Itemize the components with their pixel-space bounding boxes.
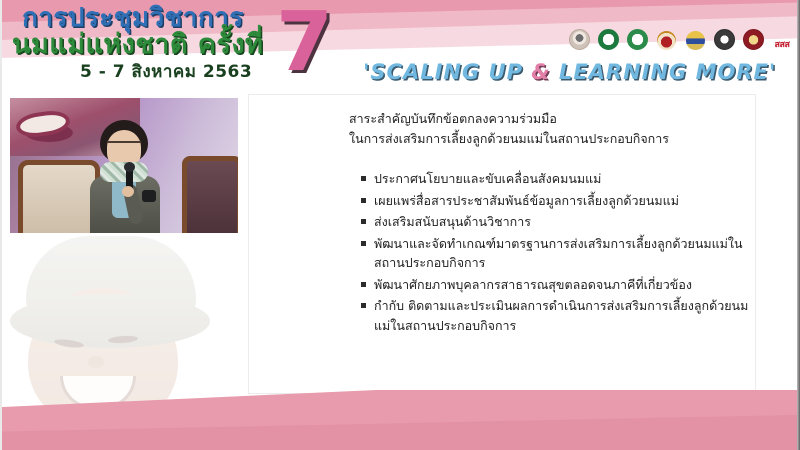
tagline-prefix: 'SCALING UP — [363, 60, 531, 84]
logo-thaihealth-sss-text: สสส — [770, 40, 794, 50]
tagline-ampersand: & — [531, 60, 550, 84]
conference-title-line1: การประชุมวิชาการ — [22, 4, 244, 32]
screen-mouth-graphic — [19, 113, 67, 135]
logo-royal-seal-icon — [569, 29, 590, 50]
logo-black-circle-seal-icon — [714, 29, 735, 50]
bullet-item: กำกับ ติดตามและประเมินผลการดำเนินการส่งเ… — [361, 296, 751, 335]
logo-thaihealth-sss: สสส — [770, 24, 794, 50]
bullet-item: พัฒนาและจัดทำเกณฑ์มาตรฐานการส่งเสริมการเ… — [361, 234, 751, 273]
logo-department-health — [625, 24, 649, 50]
logo-royal-seal — [567, 24, 591, 50]
presenter-clicker — [142, 190, 156, 202]
logo-red-circle-seal-icon — [743, 29, 764, 50]
conference-edition-number: 7 — [276, 2, 331, 84]
presentation-slide: 7 การประชุมวิชาการ นมแม่แห่งชาติ ครั้งที… — [0, 0, 800, 450]
content-heading: สาระสำคัญบันทึกข้อตกลงความร่วมมือ ในการส… — [349, 109, 749, 149]
logo-royal-emblem-red — [654, 24, 678, 50]
logo-ministry-public-health — [596, 24, 620, 50]
bullet-item: เผยแพร่สื่อสารประชาสัมพันธ์ข้อมูลการเลี้… — [361, 191, 751, 211]
baby-nose — [88, 356, 104, 368]
content-heading-line1: สาระสำคัญบันทึกข้อตกลงความร่วมมือ — [349, 109, 749, 129]
conference-date: 5 - 7 สิงหาคม 2563 — [80, 62, 252, 82]
speaker-video-thumbnail[interactable] — [10, 98, 238, 233]
logo-ministry-public-health-icon — [598, 29, 619, 50]
conference-tagline: 'SCALING UP & LEARNING MORE' — [363, 60, 776, 84]
armchair-right — [182, 156, 238, 233]
slide-frame-left-edge — [0, 0, 2, 450]
speaker-hand — [122, 186, 134, 197]
logo-black-circle-seal — [712, 24, 736, 50]
logo-department-health-icon — [627, 29, 648, 50]
microphone-head-icon — [124, 162, 135, 172]
logo-thai-garuda — [683, 24, 707, 50]
bullet-item: พัฒนาศักยภาพบุคลากรสาธารณสุขตลอดจนภาคีที… — [361, 275, 751, 295]
bullet-item: ส่งเสริมสนับสนุนด้านวิชาการ — [361, 212, 751, 232]
logo-royal-emblem-red-icon — [657, 31, 676, 50]
slide-header-banner: 7 การประชุมวิชาการ นมแม่แห่งชาติ ครั้งที… — [0, 0, 800, 92]
content-bullet-list: ประกาศนโยบายและขับเคลื่อนสังคมนมแม่ เผยแ… — [361, 169, 751, 337]
speaker-figure — [86, 120, 164, 233]
slide-content-panel: สาระสำคัญบันทึกข้อตกลงความร่วมมือ ในการส… — [248, 94, 756, 394]
slide-footer-band — [0, 390, 800, 450]
sponsor-logo-strip: สสส — [567, 24, 794, 50]
logo-red-circle-seal — [741, 24, 765, 50]
content-heading-line2: ในการส่งเสริมการเลี้ยงลูกด้วยนมแม่ในสถาน… — [349, 129, 749, 149]
tagline-suffix: LEARNING MORE' — [551, 60, 777, 84]
logo-thai-garuda-icon — [686, 31, 705, 50]
speaker-glasses — [107, 141, 141, 150]
bullet-item: ประกาศนโยบายและขับเคลื่อนสังคมนมแม่ — [361, 169, 751, 189]
conference-title-line2: นมแม่แห่งชาติ ครั้งที่ — [12, 30, 263, 60]
